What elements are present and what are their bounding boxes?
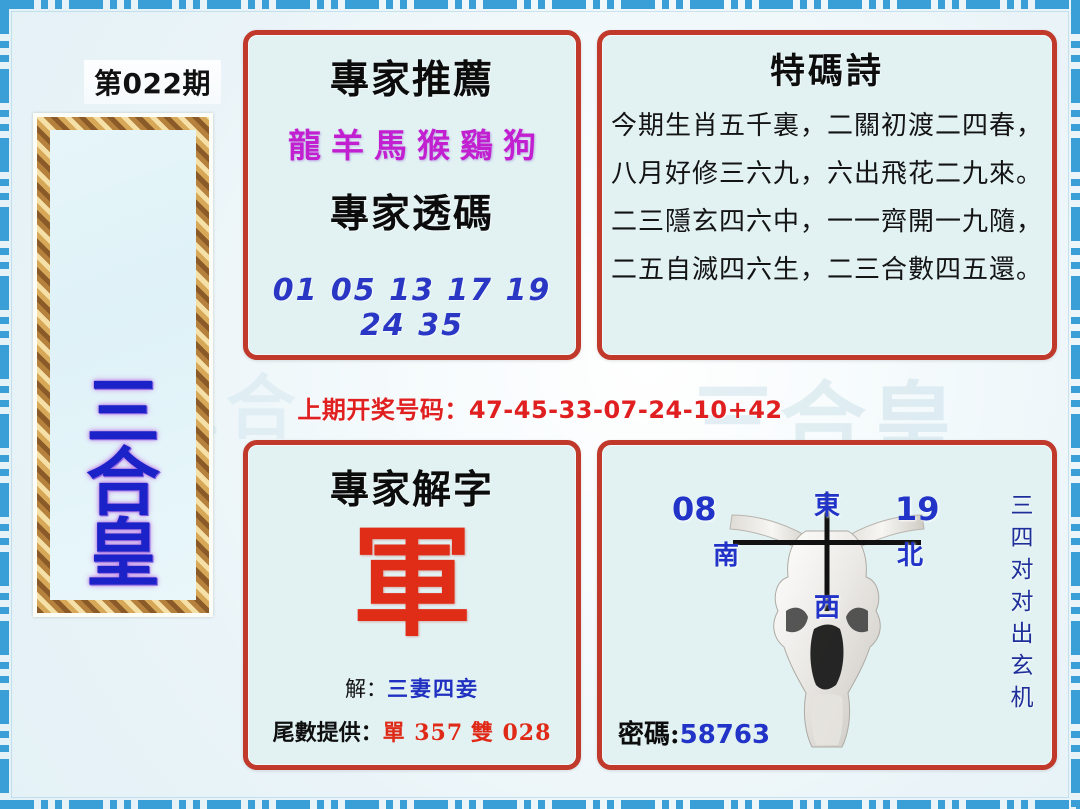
scroll-inner-surface: 三 合 皇 [50, 130, 196, 600]
vertical-hint-text: 三四对对出玄机 [1002, 493, 1036, 717]
zodiac-item-goat: 羊 [331, 119, 364, 167]
explanation-label: 解： [345, 677, 387, 701]
compass-horizontal-line [733, 540, 921, 545]
zodiac-item-dog: 狗 [503, 119, 536, 167]
poem-line-4: 二五自滅四六生，二三合數四五還。 [602, 249, 1052, 286]
zodiac-item-rooster: 鷄 [460, 119, 493, 167]
zodiac-item-monkey: 猴 [417, 119, 450, 167]
password-row: 密碼:58763 [618, 714, 770, 751]
poem-panel-title: 特碼詩 [602, 43, 1052, 94]
issue-number-label: 第022期 [84, 60, 221, 104]
tail-number-row: 尾數提供：單 357 雙 028 [248, 715, 576, 747]
password-label: 密碼: [618, 720, 680, 750]
poem-line-3: 二三隱玄四六中，一一齊開一九隨， [602, 201, 1052, 238]
direction-label-east: 東 [814, 485, 840, 522]
zodiac-item-horse: 馬 [374, 119, 407, 167]
explanation-row: 解：三妻四妾 [248, 673, 576, 703]
direction-label-west: 西 [814, 587, 840, 624]
tail-number-even: 雙 028 [471, 720, 552, 746]
scroll-ornament-border: 三 合 皇 [37, 117, 209, 613]
skull-compass-panel: 東 南 北 西 三四对对出玄机 密碼:58763 36 [597, 440, 1057, 770]
direction-label-north: 北 [897, 535, 923, 572]
special-code-poem-panel: 特碼詩 今期生肖五千裏，二關初渡二四春， 八月好修三六九，六出飛花二九來。 二三… [597, 30, 1057, 360]
expert-recommendation-panel: 專家推薦 龍 羊 馬 猴 鷄 狗 專家透碼 01 05 13 17 19 24 … [243, 30, 581, 360]
direction-label-south: 南 [713, 535, 739, 572]
skull-stage: 東 南 北 西 三四对对出玄机 密碼:58763 36 [602, 445, 1052, 765]
explanation-value: 三妻四妾 [387, 676, 479, 701]
featured-character: 軍 [248, 523, 576, 643]
poem-line-2: 八月好修三六九，六出飛花二九來。 [602, 153, 1052, 190]
zodiac-item-dragon: 龍 [288, 119, 321, 167]
scroll-char-2: 合 [86, 448, 160, 519]
scroll-char-3: 皇 [86, 519, 160, 590]
frame-top-border [0, 0, 1080, 9]
expert-panel-subtitle: 專家透碼 [248, 183, 576, 239]
skull-number-right: 19 [895, 490, 940, 528]
tail-number-odd: 單 357 [383, 720, 464, 746]
skull-number-left: 08 [672, 490, 717, 528]
password-value: 58763 [680, 720, 770, 750]
tail-number-label: 尾數提供： [273, 720, 383, 746]
char-panel-title: 專家解字 [248, 459, 576, 515]
poem-line-1: 今期生肖五千裏，二關初渡二四春， [602, 105, 1052, 142]
title-scroll-banner: 三 合 皇 [33, 113, 213, 617]
expert-recommended-numbers: 01 05 13 17 19 24 35 [248, 273, 576, 343]
expert-panel-title: 專家推薦 [248, 49, 576, 105]
last-draw-result-banner: 上期开奖号码：47-45-33-07-24-10+42 [0, 390, 1080, 425]
zodiac-list: 龍 羊 馬 猴 鷄 狗 [248, 119, 576, 167]
character-interpretation-panel: 專家解字 軍 解：三妻四妾 尾數提供：單 357 雙 028 [243, 440, 581, 770]
poster-root: 三合皇 三合 第022期 三 合 皇 專家推薦 龍 羊 馬 猴 鷄 狗 專家透碼… [0, 0, 1080, 809]
frame-bottom-border [0, 800, 1080, 809]
